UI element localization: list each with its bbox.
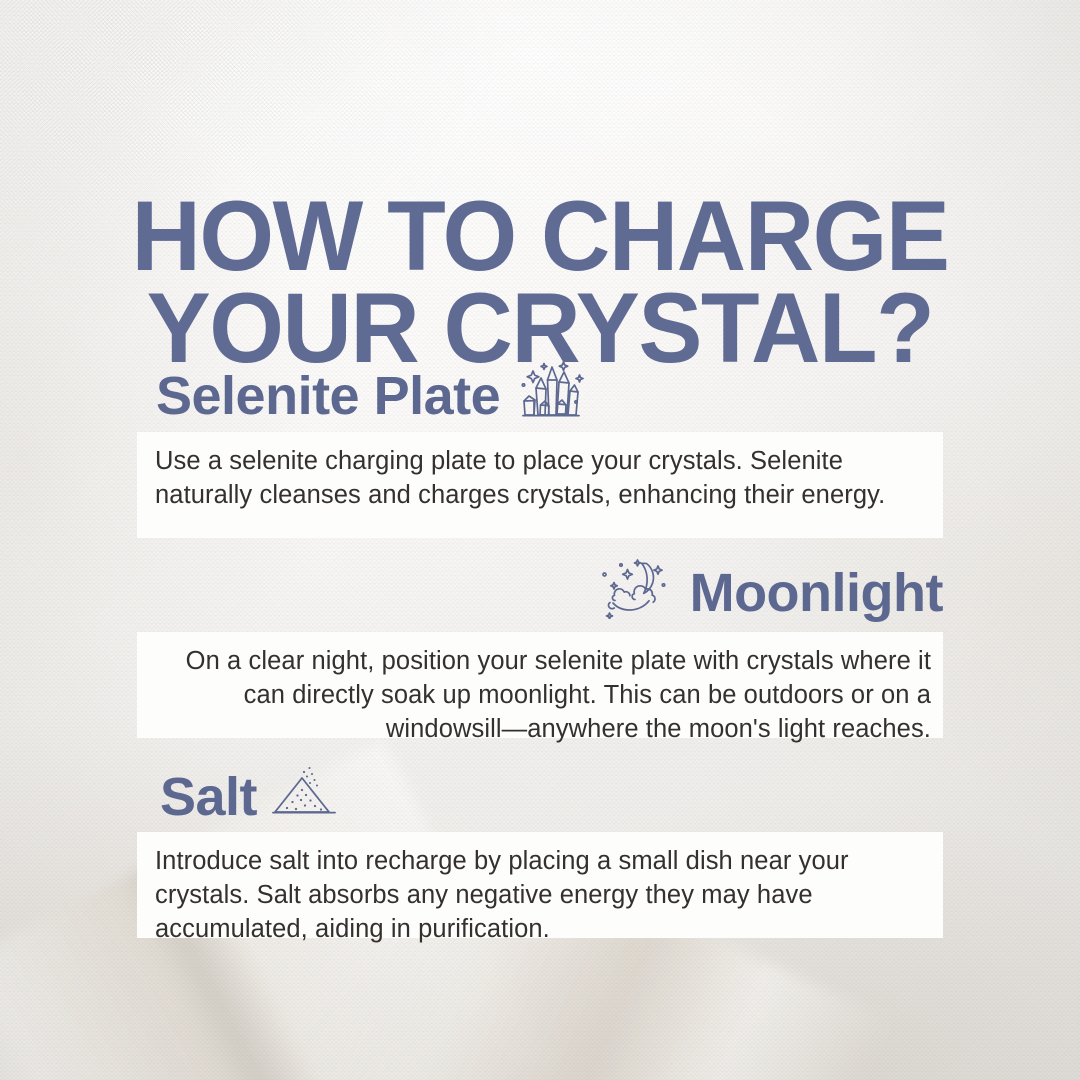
page-title: HOW TO CHARGE YOUR CRYSTAL?: [16, 190, 1064, 374]
page-title-line-1: HOW TO CHARGE: [16, 190, 1064, 282]
section-heading-moonlight: Moonlight: [594, 557, 943, 628]
section-heading-selenite-plate: Selenite Plate: [156, 362, 586, 429]
section-body-text-moonlight: On a clear night, position your selenite…: [155, 644, 931, 746]
crystal-cluster-icon: [516, 358, 586, 429]
section-body-band-selenite-plate: Use a selenite charging plate to place y…: [137, 432, 943, 538]
section-body-text-salt: Introduce salt into recharge by placing …: [155, 844, 925, 946]
section-body-text-selenite-plate: Use a selenite charging plate to place y…: [155, 444, 925, 512]
section-body-band-moonlight: On a clear night, position your selenite…: [137, 632, 943, 738]
section-body-band-salt: Introduce salt into recharge by placing …: [137, 832, 943, 938]
section-heading-label-selenite-plate: Selenite Plate: [156, 369, 500, 423]
section-heading-label-salt: Salt: [160, 770, 257, 824]
section-heading-label-moonlight: Moonlight: [690, 566, 943, 620]
moon-clouds-stars-icon: [594, 555, 672, 628]
salt-pile-icon: [271, 764, 337, 831]
section-heading-salt: Salt: [160, 762, 337, 831]
infographic-poster: HOW TO CHARGE YOUR CRYSTAL? Selenite Pla…: [0, 0, 1080, 1080]
